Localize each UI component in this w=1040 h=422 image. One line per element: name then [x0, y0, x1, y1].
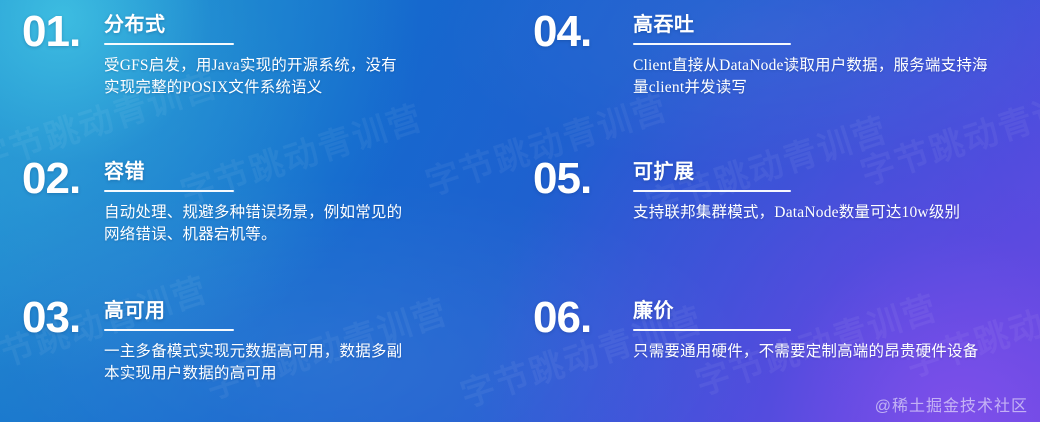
feature-description: 只需要通用硬件，不需要定制高端的昂贵硬件设备	[633, 341, 978, 363]
feature-body: 高可用 一主多备模式实现元数据高可用，数据多副 本实现用户数据的高可用	[104, 296, 402, 385]
feature-body: 分布式 受GFS启发，用Java实现的开源系统，没有 实现完整的POSIX文件系…	[104, 10, 397, 99]
description-line: 一主多备模式实现元数据高可用，数据多副	[104, 341, 402, 363]
feature-body: 廉价 只需要通用硬件，不需要定制高端的昂贵硬件设备	[633, 296, 978, 363]
feature-item-01: 01. 分布式 受GFS启发，用Java实现的开源系统，没有 实现完整的POSI…	[0, 0, 520, 141]
feature-number: 05.	[533, 157, 633, 201]
description-line: 自动处理、规避多种错误场景，例如常见的	[104, 202, 402, 224]
description-line: 量client并发读写	[633, 77, 988, 99]
feature-title: 可扩展	[633, 161, 960, 183]
feature-item-05: 05. 可扩展 支持联邦集群模式，DataNode数量可达10w级别	[520, 141, 1040, 282]
title-underline	[104, 190, 234, 192]
description-line: 网络错误、机器宕机等。	[104, 224, 402, 246]
title-underline	[633, 190, 791, 192]
feature-item-02: 02. 容错 自动处理、规避多种错误场景，例如常见的 网络错误、机器宕机等。	[0, 141, 520, 282]
title-underline	[633, 329, 791, 331]
description-line: 支持联邦集群模式，DataNode数量可达10w级别	[633, 202, 960, 224]
feature-body: 可扩展 支持联邦集群模式，DataNode数量可达10w级别	[633, 157, 960, 224]
feature-number: 02.	[22, 157, 104, 201]
description-line: Client直接从DataNode读取用户数据，服务端支持海	[633, 55, 988, 77]
description-line: 实现完整的POSIX文件系统语义	[104, 77, 397, 99]
feature-number: 04.	[533, 10, 633, 54]
feature-description: Client直接从DataNode读取用户数据，服务端支持海 量client并发…	[633, 55, 988, 99]
title-underline	[104, 43, 234, 45]
feature-grid: 01. 分布式 受GFS启发，用Java实现的开源系统，没有 实现完整的POSI…	[0, 0, 1040, 422]
feature-item-03: 03. 高可用 一主多备模式实现元数据高可用，数据多副 本实现用户数据的高可用	[0, 282, 520, 422]
feature-title: 分布式	[104, 14, 397, 36]
description-line: 本实现用户数据的高可用	[104, 363, 402, 385]
feature-item-06: 06. 廉价 只需要通用硬件，不需要定制高端的昂贵硬件设备	[520, 282, 1040, 422]
description-line: 受GFS启发，用Java实现的开源系统，没有	[104, 55, 397, 77]
feature-title: 容错	[104, 161, 402, 183]
slide-canvas: 字节跳动青训营 字节跳动青训营 字节跳动青训营 字节跳动青训营 字节跳动青训营 …	[0, 0, 1040, 422]
feature-number: 03.	[22, 296, 104, 340]
feature-title: 高吞吐	[633, 14, 988, 36]
title-underline	[633, 43, 791, 45]
feature-body: 高吞吐 Client直接从DataNode读取用户数据，服务端支持海 量clie…	[633, 10, 988, 99]
feature-title: 廉价	[633, 300, 978, 322]
feature-description: 自动处理、规避多种错误场景，例如常见的 网络错误、机器宕机等。	[104, 202, 402, 246]
feature-number: 01.	[22, 10, 104, 54]
feature-number: 06.	[533, 296, 633, 340]
feature-description: 一主多备模式实现元数据高可用，数据多副 本实现用户数据的高可用	[104, 341, 402, 385]
feature-body: 容错 自动处理、规避多种错误场景，例如常见的 网络错误、机器宕机等。	[104, 157, 402, 246]
feature-title: 高可用	[104, 300, 402, 322]
feature-description: 受GFS启发，用Java实现的开源系统，没有 实现完整的POSIX文件系统语义	[104, 55, 397, 99]
feature-description: 支持联邦集群模式，DataNode数量可达10w级别	[633, 202, 960, 224]
title-underline	[104, 329, 234, 331]
description-line: 只需要通用硬件，不需要定制高端的昂贵硬件设备	[633, 341, 978, 363]
feature-item-04: 04. 高吞吐 Client直接从DataNode读取用户数据，服务端支持海 量…	[520, 0, 1040, 141]
